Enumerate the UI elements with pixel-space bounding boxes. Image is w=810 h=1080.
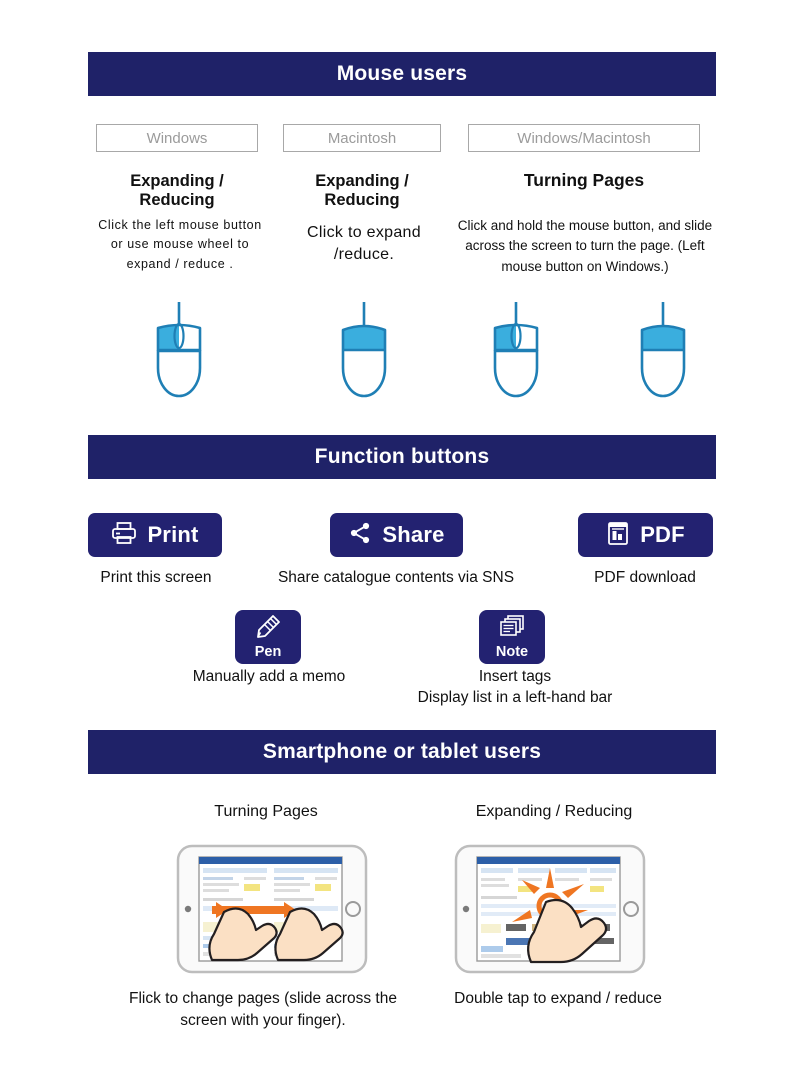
pencil-icon — [255, 614, 281, 643]
section-banner-functions: Function buttons — [88, 435, 716, 479]
tablet-illustration-swipe — [172, 840, 372, 985]
pdf-button[interactable]: PDF — [578, 513, 713, 557]
os-label-windows-macintosh: Windows/Macintosh — [468, 124, 700, 152]
pen-caption: Manually add a memo — [158, 667, 380, 688]
note-caption-line-2: Display list in a left-hand bar — [396, 688, 634, 709]
print-caption: Print this screen — [70, 568, 242, 589]
mouse-icon-left-button-2 — [483, 300, 549, 405]
pen-button[interactable]: Pen — [235, 610, 301, 664]
share-button[interactable]: Share — [330, 513, 463, 557]
mouse-column-description-3: Click and hold the mouse button, and sli… — [452, 216, 718, 277]
note-stack-icon — [498, 614, 526, 643]
tablet-illustration-double-tap — [450, 840, 650, 985]
mobile-caption-1: Flick to change pages (slide across the … — [110, 988, 416, 1032]
instruction-page: Mouse users Windows Macintosh Windows/Ma… — [0, 0, 810, 1080]
mobile-column-heading-2: Expanding / Reducing — [448, 803, 660, 821]
mouse-column-heading-3: Turning Pages — [460, 170, 708, 191]
pdf-document-icon — [606, 520, 630, 551]
mouse-column-description-2: Click to expand /reduce. — [282, 222, 446, 267]
note-caption-line-1: Insert tags — [396, 667, 634, 688]
mouse-icon-whole-top-2 — [630, 300, 696, 405]
os-label-macintosh: Macintosh — [283, 124, 441, 152]
mouse-column-description-1: Click the left mouse button or use mouse… — [94, 216, 266, 274]
print-button[interactable]: Print — [88, 513, 222, 557]
section-banner-mobile: Smartphone or tablet users — [88, 730, 716, 774]
note-button[interactable]: Note — [479, 610, 545, 664]
mobile-column-heading-1: Turning Pages — [180, 803, 352, 821]
printer-icon — [111, 521, 137, 550]
mouse-column-heading-1: Expanding / Reducing — [96, 172, 258, 210]
print-button-label: Print — [147, 522, 198, 548]
mobile-caption-2: Double tap to expand / reduce — [428, 988, 688, 1010]
mouse-icon-left-button — [146, 300, 212, 405]
mouse-column-heading-2: Expanding / Reducing — [278, 172, 446, 210]
pen-button-label: Pen — [255, 644, 282, 660]
mouse-icon-whole-top — [331, 300, 397, 405]
os-label-windows: Windows — [96, 124, 258, 152]
pdf-button-label: PDF — [640, 522, 685, 548]
pdf-caption: PDF download — [560, 568, 730, 589]
share-caption: Share catalogue contents via SNS — [246, 568, 546, 589]
note-button-label: Note — [496, 644, 528, 660]
share-button-label: Share — [382, 522, 444, 548]
section-banner-mouse: Mouse users — [88, 52, 716, 96]
note-caption: Insert tags Display list in a left-hand … — [396, 667, 634, 709]
share-icon — [348, 521, 372, 550]
